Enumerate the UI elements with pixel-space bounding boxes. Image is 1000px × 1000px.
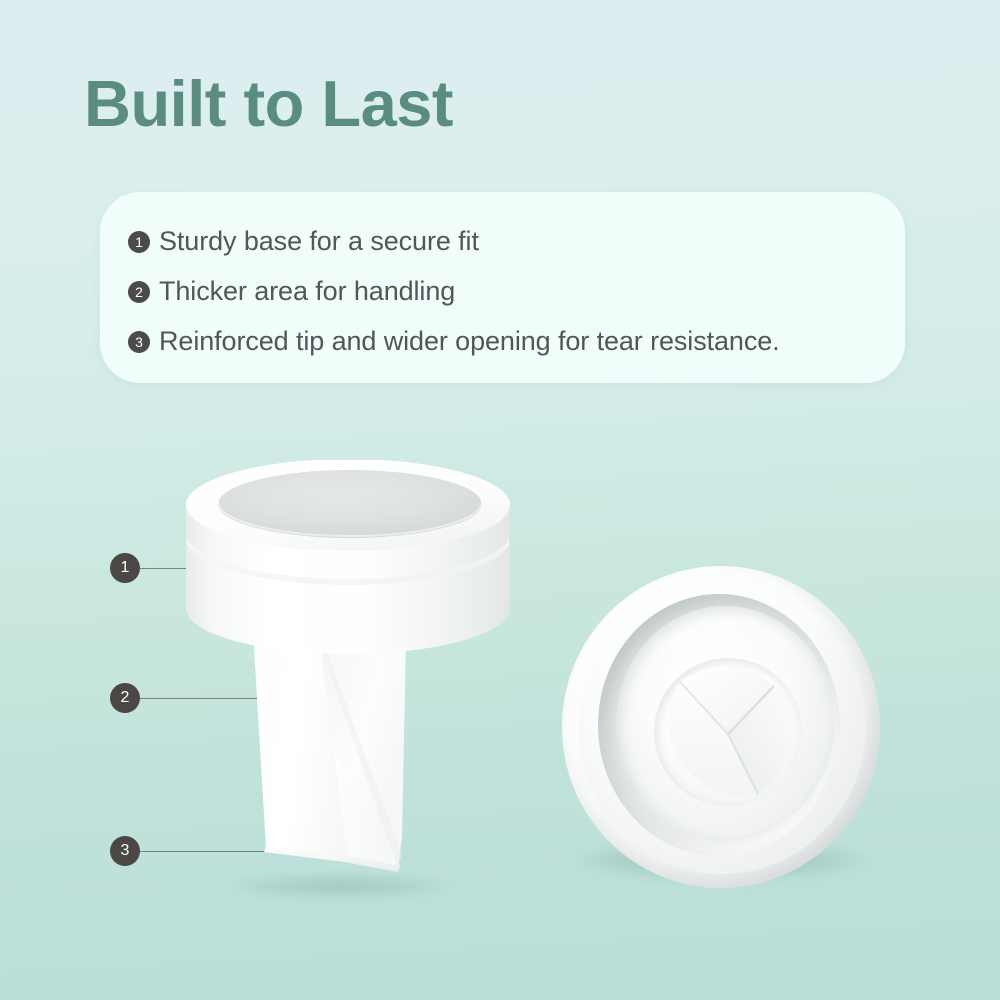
feature-badge-1: 1 [128,231,150,253]
list-item: 2 Thicker area for handling [128,267,885,316]
feature-text-2: Thicker area for handling [159,276,455,307]
duckbill-valve-top-view [556,562,886,902]
list-item: 3 Reinforced tip and wider opening for t… [128,317,885,366]
page-title: Built to Last [84,70,453,138]
feature-text-3: Reinforced tip and wider opening for tea… [159,326,780,357]
callout-dot-1: 1 [110,553,140,583]
feature-badge-2: 2 [128,281,150,303]
valve-trifold-seams [654,658,802,806]
duckbill-valve-side-view [170,460,550,910]
list-item: 1 Sturdy base for a secure fit [128,217,885,266]
valve-duckbill [170,640,550,910]
valve-base-cylinder [170,460,550,680]
feature-list: 1 Sturdy base for a secure fit 2 Thicker… [128,217,885,367]
feature-badge-3: 3 [128,331,150,353]
feature-card: 1 Sturdy base for a secure fit 2 Thicker… [100,192,905,383]
infographic-canvas: Built to Last 1 Sturdy base for a secure… [0,0,1000,1000]
callout-dot-2: 2 [110,683,140,713]
feature-text-1: Sturdy base for a secure fit [159,226,479,257]
callout-dot-3: 3 [110,836,140,866]
